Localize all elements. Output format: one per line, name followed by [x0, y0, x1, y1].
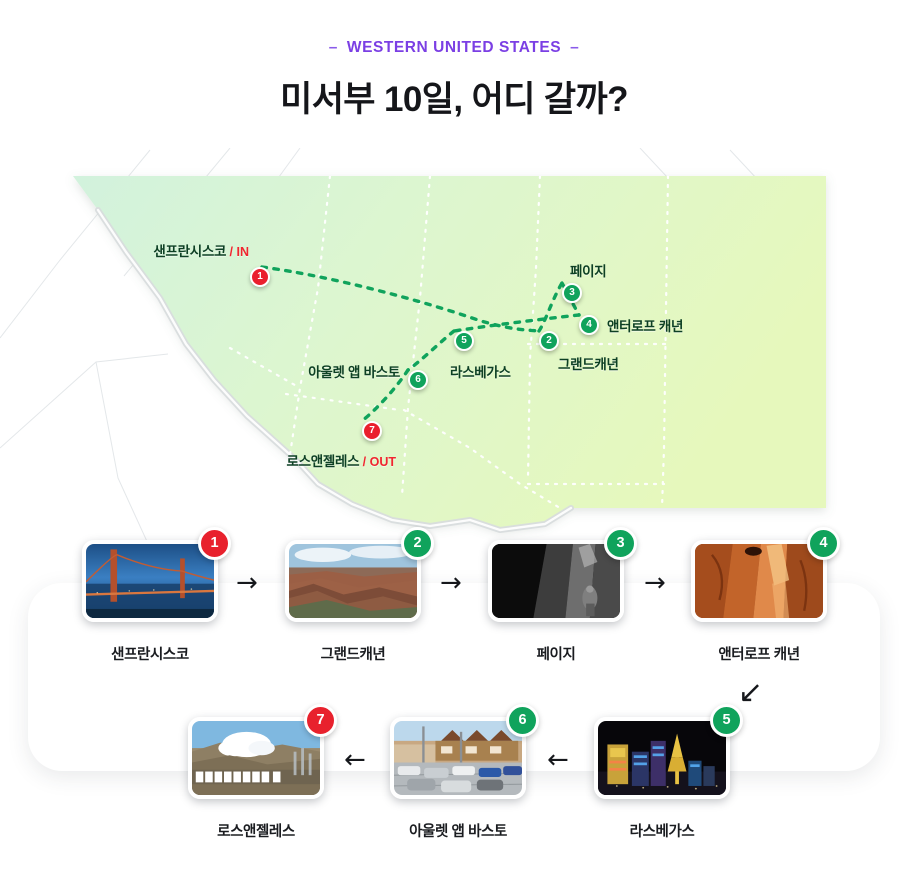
- page-slot-canyon-image: [488, 540, 624, 622]
- map-label-grand-canyon-text: 그랜드캐년: [558, 357, 619, 372]
- itinerary-card-5[interactable]: 5 라스베가스: [594, 717, 730, 841]
- itinerary-card-1-badge: 1: [198, 527, 231, 560]
- map-pin-2[interactable]: 2: [539, 331, 559, 351]
- map-canvas: [0, 148, 908, 548]
- itinerary-card-4-thumb-wrap: 4: [691, 540, 827, 622]
- itinerary-card-7-caption: 로스앤젤레스: [188, 820, 324, 841]
- arrow-2-to-3: →: [440, 570, 462, 596]
- map-label-los-angeles-io: / OUT: [363, 455, 396, 469]
- itinerary-card-5-thumb-wrap: 5: [594, 717, 730, 799]
- route-map: 1 2 3 4 5 6 7 샌프란시스코 / IN 페이지 앤터로프 캐년 그랜…: [0, 148, 908, 548]
- map-pin-1[interactable]: 1: [250, 267, 270, 287]
- itinerary-card-4-number: 4: [819, 535, 827, 551]
- itinerary-card-6-thumb-wrap: 6: [390, 717, 526, 799]
- itinerary-card-4[interactable]: 4 앤터로프 캐년: [691, 540, 827, 664]
- antelope-canyon-image: [691, 540, 827, 622]
- itinerary-card-6-badge: 6: [506, 704, 539, 737]
- arrow-1-to-2: →: [236, 570, 258, 596]
- itinerary-card-3-badge: 3: [604, 527, 637, 560]
- map-pin-3-number: 3: [569, 287, 575, 298]
- map-label-san-francisco: 샌프란시스코 / IN: [153, 240, 249, 260]
- map-label-las-vegas: 라스베가스: [450, 361, 511, 381]
- map-label-san-francisco-io: / IN: [230, 245, 249, 259]
- map-pin-7-number: 7: [369, 425, 375, 436]
- itinerary-card-6[interactable]: 6 아울렛 앱 바스토: [390, 717, 526, 841]
- itinerary-card-1-caption: 샌프란시스코: [82, 643, 218, 664]
- page-eyebrow: –WESTERN UNITED STATES–: [0, 39, 908, 57]
- itinerary-card-7[interactable]: 7 로스앤젤레스: [188, 717, 324, 841]
- itinerary-card-6-caption: 아울렛 앱 바스토: [390, 820, 526, 841]
- map-label-grand-canyon: 그랜드캐년: [558, 353, 619, 373]
- itinerary-card-4-badge: 4: [807, 527, 840, 560]
- map-label-san-francisco-text: 샌프란시스코: [153, 244, 226, 259]
- itinerary-card-1-number: 1: [210, 535, 218, 551]
- itinerary-card-2-thumb-wrap: 2: [285, 540, 421, 622]
- itinerary-card-2-caption: 그랜드캐년: [285, 643, 421, 664]
- itinerary-card-3-thumb-wrap: 3: [488, 540, 624, 622]
- grand-canyon-image: [285, 540, 421, 622]
- hollywood-sign-image: [188, 717, 324, 799]
- arrow-6-to-7: ←: [344, 747, 366, 773]
- itinerary-card-7-thumb-wrap: 7: [188, 717, 324, 799]
- arrow-4-to-5: ↙: [738, 680, 763, 706]
- eyebrow-dash-left: –: [320, 39, 347, 57]
- itinerary-card-2[interactable]: 2 그랜드캐년: [285, 540, 421, 664]
- las-vegas-strip-image: [594, 717, 730, 799]
- map-label-antelope-canyon: 앤터로프 캐년: [607, 315, 683, 335]
- itinerary-card-4-caption: 앤터로프 캐년: [691, 643, 827, 664]
- map-label-antelope-canyon-text: 앤터로프 캐년: [607, 319, 683, 334]
- itinerary-card-2-badge: 2: [401, 527, 434, 560]
- golden-gate-bridge-image: [82, 540, 218, 622]
- travel-route-infographic: –WESTERN UNITED STATES– 미서부 10일, 어디 갈까?: [0, 0, 908, 892]
- itinerary-card-1-thumb-wrap: 1: [82, 540, 218, 622]
- barstow-outlet-image: [390, 717, 526, 799]
- map-pin-7[interactable]: 7: [362, 421, 382, 441]
- map-pin-6-number: 6: [415, 374, 421, 385]
- map-pin-4[interactable]: 4: [579, 315, 599, 335]
- itinerary-card-1[interactable]: 1 샌프란시스코: [82, 540, 218, 664]
- map-pin-6[interactable]: 6: [408, 370, 428, 390]
- map-pin-3[interactable]: 3: [562, 283, 582, 303]
- arrow-5-to-6: ←: [547, 747, 569, 773]
- map-pin-5[interactable]: 5: [454, 331, 474, 351]
- map-label-los-angeles-text: 로스앤젤레스: [286, 454, 359, 469]
- page-title: 미서부 10일, 어디 갈까?: [0, 78, 908, 122]
- map-landmass: [73, 176, 826, 530]
- itinerary-card-5-number: 5: [722, 712, 730, 728]
- itinerary-card-7-number: 7: [316, 712, 324, 728]
- itinerary-card-5-caption: 라스베가스: [594, 820, 730, 841]
- eyebrow-dash-right: –: [561, 39, 588, 57]
- itinerary-card-6-number: 6: [518, 712, 526, 728]
- map-pin-4-number: 4: [586, 319, 592, 330]
- map-label-las-vegas-text: 라스베가스: [450, 365, 511, 380]
- itinerary-card-3-number: 3: [616, 535, 624, 551]
- itinerary-card-2-number: 2: [413, 535, 421, 551]
- arrow-3-to-4: →: [644, 570, 666, 596]
- itinerary-card-7-badge: 7: [304, 704, 337, 737]
- map-label-los-angeles: 로스앤젤레스 / OUT: [286, 450, 396, 470]
- itinerary-card-3-caption: 페이지: [488, 643, 624, 664]
- itinerary-card-5-badge: 5: [710, 704, 743, 737]
- map-pin-1-number: 1: [257, 271, 263, 282]
- map-pin-2-number: 2: [546, 335, 552, 346]
- map-pin-5-number: 5: [461, 335, 467, 346]
- map-label-page-text: 페이지: [570, 264, 606, 279]
- itinerary-card-3[interactable]: 3 페이지: [488, 540, 624, 664]
- eyebrow-text: WESTERN UNITED STATES: [347, 39, 561, 56]
- map-label-barstow-outlet-text: 아울렛 앱 바스토: [308, 365, 400, 380]
- map-label-page: 페이지: [570, 260, 606, 280]
- map-label-barstow-outlet: 아울렛 앱 바스토: [308, 361, 400, 381]
